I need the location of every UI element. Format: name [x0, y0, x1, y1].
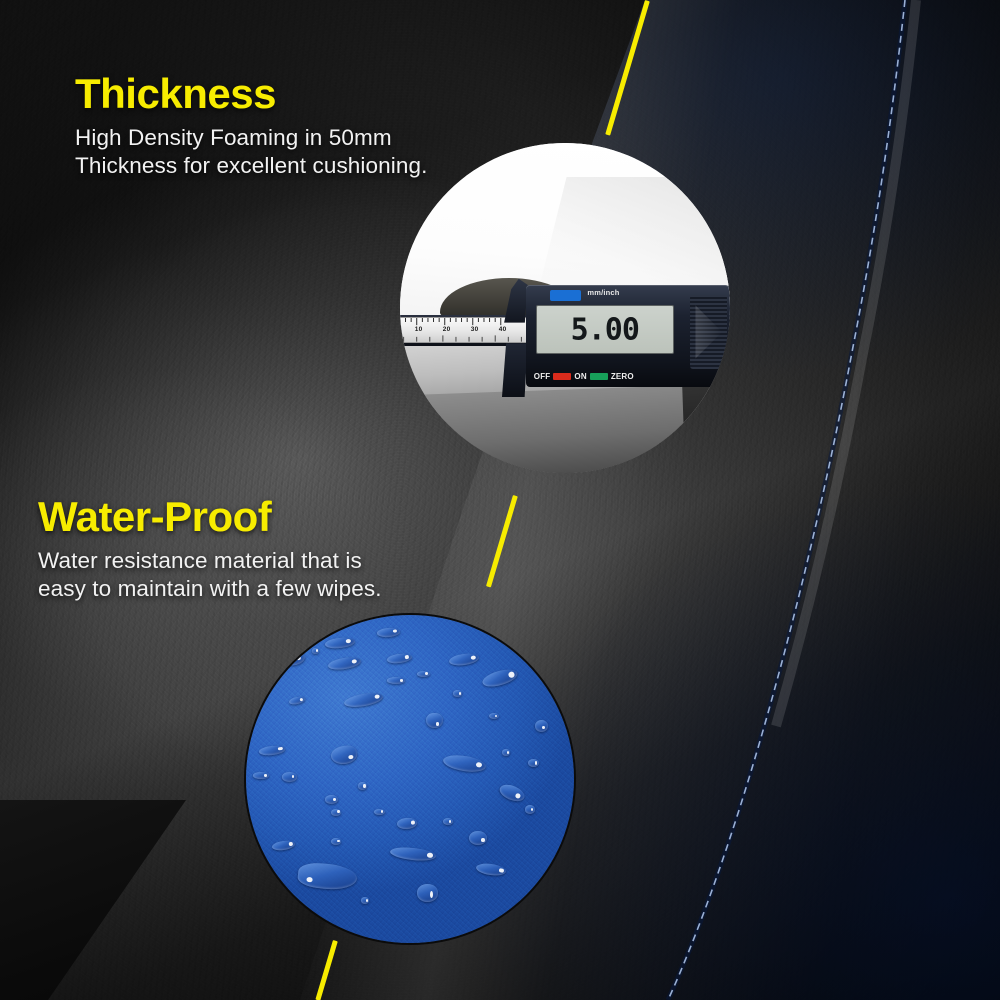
water-droplet — [282, 772, 297, 781]
caliper-button-row: OFF ON ZERO — [534, 370, 719, 383]
inset-photo-caliper: 0 10 20 30 40 50 mm/inch 5.00 — [400, 143, 730, 473]
caliper-unit-label: mm/inch — [587, 288, 619, 297]
caliper-tick-label-40: 40 — [499, 326, 507, 333]
caliper-display-head: mm/inch 5.00 OFF ON ZERO — [526, 285, 730, 388]
caliper-measurement-value: 5.00 — [537, 312, 673, 347]
water-droplet — [374, 809, 385, 816]
water-droplet — [361, 897, 370, 904]
caliper-unit-button — [550, 290, 581, 301]
water-droplet — [489, 713, 499, 719]
water-photo-scene — [246, 615, 574, 943]
feature-body-thickness: High Density Foaming in 50mm Thickness f… — [75, 124, 427, 179]
caliper-zero-label: ZERO — [611, 372, 634, 381]
caliper-photo-scene: 0 10 20 30 40 50 mm/inch 5.00 — [400, 143, 730, 473]
water-droplet — [443, 818, 453, 825]
caliper-tick-label-10: 10 — [415, 326, 423, 333]
caliper-upper-jaw-right — [504, 279, 528, 323]
water-droplet — [325, 795, 338, 804]
feature-heading-thickness: Thickness — [75, 72, 427, 116]
caliper-off-label: OFF — [534, 372, 551, 381]
water-droplet — [417, 884, 438, 902]
water-droplet — [331, 838, 341, 845]
caliper-tick-label-30: 30 — [471, 326, 479, 333]
water-droplet — [253, 772, 269, 779]
feature-banner: Thickness High Density Foaming in 50mm T… — [0, 0, 1000, 1000]
caliper-tick-label-20: 20 — [443, 326, 451, 333]
water-droplet — [387, 677, 405, 684]
digital-caliper-tool: 0 10 20 30 40 50 mm/inch 5.00 — [400, 280, 730, 402]
caliper-off-switch — [553, 373, 571, 380]
water-droplet — [535, 720, 548, 732]
water-droplet — [525, 805, 535, 814]
caliper-on-label: ON — [574, 372, 586, 381]
caliper-lcd-screen: 5.00 — [536, 305, 674, 354]
caliper-on-switch — [590, 373, 608, 380]
feature-block-thickness: Thickness High Density Foaming in 50mm T… — [75, 72, 427, 179]
caliper-thumb-roller — [690, 295, 727, 369]
feature-heading-water-proof: Water-Proof — [38, 495, 382, 539]
feature-body-water-proof: Water resistance material that is easy t… — [38, 547, 382, 602]
inset-photo-water-droplets — [244, 613, 576, 945]
water-droplet — [331, 809, 341, 816]
water-droplet — [417, 671, 430, 677]
feature-block-water-proof: Water-Proof Water resistance material th… — [38, 495, 382, 602]
water-droplet — [312, 648, 320, 654]
caliper-lower-jaw-right — [502, 343, 528, 397]
